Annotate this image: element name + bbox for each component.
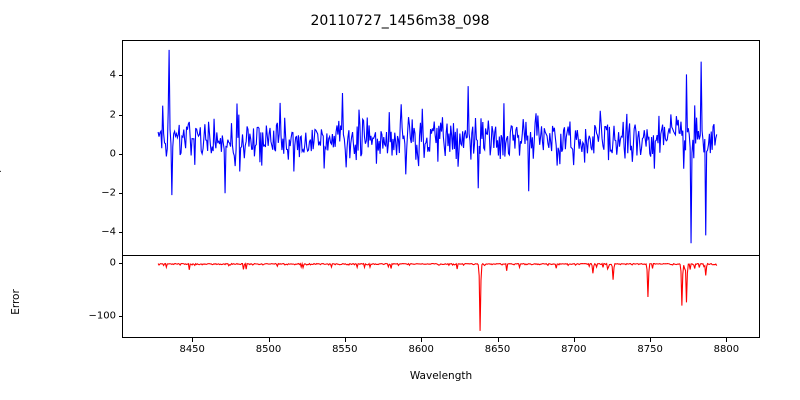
xtick-mark: [345, 338, 346, 342]
xtick-mark: [726, 338, 727, 342]
ytick-label-error: 0: [66, 257, 116, 268]
xtick-mark: [574, 338, 575, 342]
xtick-label: 8450: [179, 344, 204, 355]
xtick-label: 8500: [256, 344, 281, 355]
ytick-label-spectrum: 4: [88, 70, 116, 81]
xtick-label: 8700: [561, 344, 586, 355]
spectrum-panel: [122, 40, 760, 256]
ytick-label-spectrum: −4: [88, 227, 116, 238]
page-title: 20110727_1456m38_098: [0, 13, 800, 29]
ytick-mark-error: [119, 263, 123, 264]
x-axis-label: Wavelength: [122, 370, 760, 382]
ytick-mark-spectrum: [119, 232, 123, 233]
error-polyline: [158, 264, 717, 331]
xtick-label: 8550: [332, 344, 357, 355]
y-axis-label-spectrum: Spectrum: [0, 104, 2, 204]
ytick-label-error: −100: [66, 311, 116, 322]
spectrum-trace: [123, 41, 760, 256]
spectrum-polyline: [158, 50, 717, 243]
ytick-mark-spectrum: [119, 75, 123, 76]
ytick-label-spectrum: −2: [88, 188, 116, 199]
xtick-mark: [650, 338, 651, 342]
xtick-label: 8600: [408, 344, 433, 355]
error-panel: [122, 255, 760, 338]
ytick-label-spectrum: 0: [88, 148, 116, 159]
y-axis-label-error: Error: [10, 272, 22, 332]
ytick-mark-spectrum: [119, 154, 123, 155]
xtick-label: 8650: [485, 344, 510, 355]
matplotlib-figure: 20110727_1456m38_098 420−2−40−1008450850…: [0, 0, 800, 400]
ytick-mark-spectrum: [119, 115, 123, 116]
error-trace: [123, 256, 760, 338]
xtick-label: 8750: [637, 344, 662, 355]
xtick-mark: [498, 338, 499, 342]
xtick-mark: [269, 338, 270, 342]
xtick-mark: [192, 338, 193, 342]
ytick-mark-spectrum: [119, 193, 123, 194]
ytick-label-spectrum: 2: [88, 109, 116, 120]
xtick-label: 8800: [714, 344, 739, 355]
xtick-mark: [421, 338, 422, 342]
ytick-mark-error: [119, 316, 123, 317]
